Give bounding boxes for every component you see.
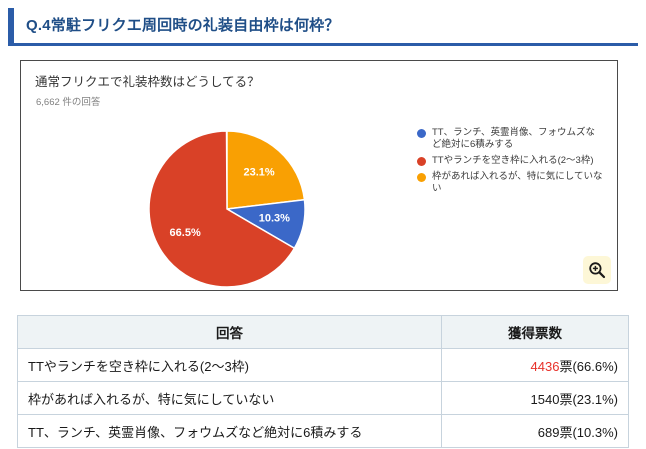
votes-number: 1540 — [531, 392, 560, 407]
table-header-row: 回答 獲得票数 — [18, 316, 629, 349]
header-accent-bar — [8, 8, 14, 46]
cell-votes: 689票(10.3%) — [442, 415, 629, 448]
votes-suffix: 票(66.6%) — [559, 359, 618, 374]
cell-votes: 4436票(66.6%) — [442, 349, 629, 382]
cell-answer: TTやランチを空き枠に入れる(2〜3枠) — [18, 349, 442, 382]
votes-number: 4436 — [531, 359, 560, 374]
legend-color-swatch — [417, 129, 426, 138]
legend-color-swatch — [417, 173, 426, 182]
results-table-body: TTやランチを空き枠に入れる(2〜3枠)4436票(66.6%)枠があれば入れる… — [18, 349, 629, 448]
votes-suffix: 票(10.3%) — [559, 425, 618, 440]
chart-title: 通常フリクエで礼装枠数はどうしてる？ — [35, 71, 260, 90]
question-header: Q.4常駐フリクエ周回時の礼装自由枠は何枠？ — [8, 8, 638, 46]
table-row: TT、ランチ、英霊肖像、フォウムズなど絶対に6積みする689票(10.3%) — [18, 415, 629, 448]
column-header-votes: 獲得票数 — [442, 316, 629, 349]
cell-votes: 1540票(23.1%) — [442, 382, 629, 415]
results-table: 回答 獲得票数 TTやランチを空き枠に入れる(2〜3枠)4436票(66.6%)… — [17, 315, 629, 448]
legend-item[interactable]: TTやランチを空き枠に入れる(2〜3枠) — [417, 155, 603, 167]
column-header-answer: 回答 — [18, 316, 442, 349]
chart-card: 通常フリクエで礼装枠数はどうしてる？ 6,662 件の回答 23.1%10.3%… — [20, 60, 618, 291]
table-row: TTやランチを空き枠に入れる(2〜3枠)4436票(66.6%) — [18, 349, 629, 382]
legend-item-label: TTやランチを空き枠に入れる(2〜3枠) — [432, 155, 594, 167]
votes-number: 689 — [538, 425, 560, 440]
pie-chart-svg: 23.1%10.3%66.5% — [147, 129, 307, 289]
pie-slice-label: 66.5% — [170, 227, 201, 239]
chart-zoom-button[interactable] — [583, 256, 611, 284]
pie-legend: TT、ランチ、英霊肖像、フォウムズなど絶対に6積みするTTやランチを空き枠に入れ… — [417, 127, 603, 199]
pie-slice-label: 10.3% — [259, 213, 290, 225]
page-title: Q.4常駐フリクエ周回時の礼装自由枠は何枠？ — [26, 14, 340, 35]
legend-item[interactable]: 枠があれば入れるが、特に気にしていない — [417, 171, 603, 195]
table-row: 枠があれば入れるが、特に気にしていない1540票(23.1%) — [18, 382, 629, 415]
pie-slice-label: 23.1% — [243, 167, 274, 179]
pie-chart: 23.1%10.3%66.5% — [147, 129, 307, 289]
cell-answer: TT、ランチ、英霊肖像、フォウムズなど絶対に6積みする — [18, 415, 442, 448]
legend-color-swatch — [417, 157, 426, 166]
legend-item-label: TT、ランチ、英霊肖像、フォウムズなど絶対に6積みする — [432, 127, 603, 151]
legend-item-label: 枠があれば入れるが、特に気にしていない — [432, 171, 603, 195]
pie-slices — [149, 131, 305, 287]
votes-suffix: 票(23.1%) — [559, 392, 618, 407]
legend-item[interactable]: TT、ランチ、英霊肖像、フォウムズなど絶対に6積みする — [417, 127, 603, 151]
cell-answer: 枠があれば入れるが、特に気にしていない — [18, 382, 442, 415]
magnifier-plus-icon — [588, 261, 606, 279]
chart-response-count: 6,662 件の回答 — [36, 94, 100, 108]
results-table-head: 回答 獲得票数 — [18, 316, 629, 349]
